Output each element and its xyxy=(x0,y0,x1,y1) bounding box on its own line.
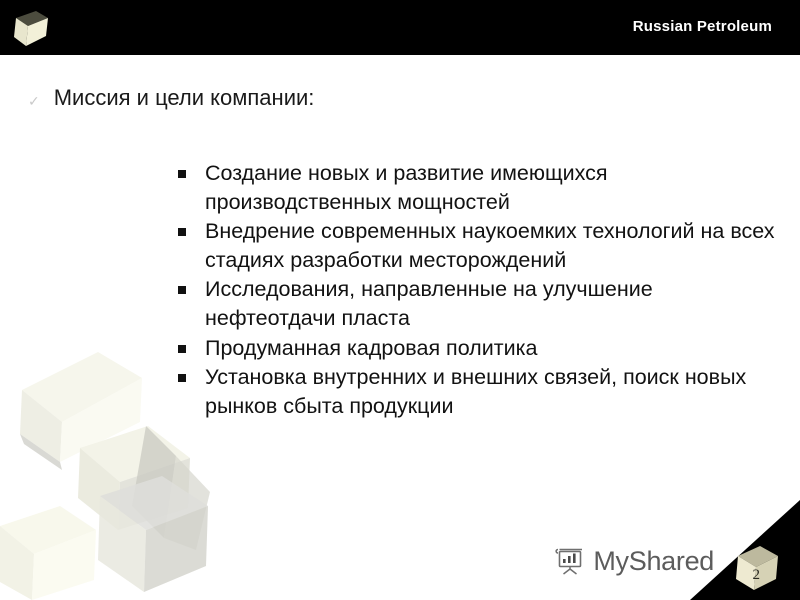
page-number: 2 xyxy=(753,568,761,583)
cube-logo-icon xyxy=(10,8,54,50)
list-item-text: Внедрение современных наукоемких техноло… xyxy=(205,217,778,274)
square-bullet-icon xyxy=(178,345,186,353)
presentation-board-svg xyxy=(554,546,586,576)
square-bullet-icon xyxy=(178,286,186,294)
list-item: Создание новых и развитие имеющихся прои… xyxy=(178,159,778,216)
bullet-list: Создание новых и развитие имеющихся прои… xyxy=(178,159,778,421)
square-bullet-icon xyxy=(178,228,186,236)
board-bar-1 xyxy=(563,559,566,563)
square-bullet-icon xyxy=(178,170,186,178)
slide-content: ✓ Миссия и цели компании: Создание новых… xyxy=(0,55,800,600)
square-bullet-icon xyxy=(178,374,186,382)
list-item-text: Создание новых и развитие имеющихся прои… xyxy=(205,159,778,216)
board-bar-3 xyxy=(573,554,576,564)
list-item: Внедрение современных наукоемких техноло… xyxy=(178,217,778,274)
list-item: Исследования, направленные на улучшение … xyxy=(178,275,778,332)
check-icon: ✓ xyxy=(28,85,40,108)
list-item: Установка внутренних и внешних связей, п… xyxy=(178,363,778,420)
list-item-text: Исследования, направленные на улучшение … xyxy=(205,275,778,332)
page-title: Russian Petroleum xyxy=(633,18,772,35)
board-legs xyxy=(564,567,577,575)
list-item-text: Установка внутренних и внешних связей, п… xyxy=(205,363,778,420)
board-pointer xyxy=(556,550,558,554)
list-item: Продуманная кадровая политика xyxy=(178,334,778,363)
slide-root: Russian Petroleum ✓ Миссия и цели компан… xyxy=(0,0,800,600)
lead-line: ✓ Миссия и цели компании: xyxy=(28,85,314,111)
cube-logo-svg xyxy=(10,8,54,50)
board-bar-2 xyxy=(568,556,571,563)
list-item-text: Продуманная кадровая политика xyxy=(205,334,778,363)
lead-heading: Миссия и цели компании: xyxy=(54,85,315,111)
presentation-board-icon xyxy=(554,546,586,576)
